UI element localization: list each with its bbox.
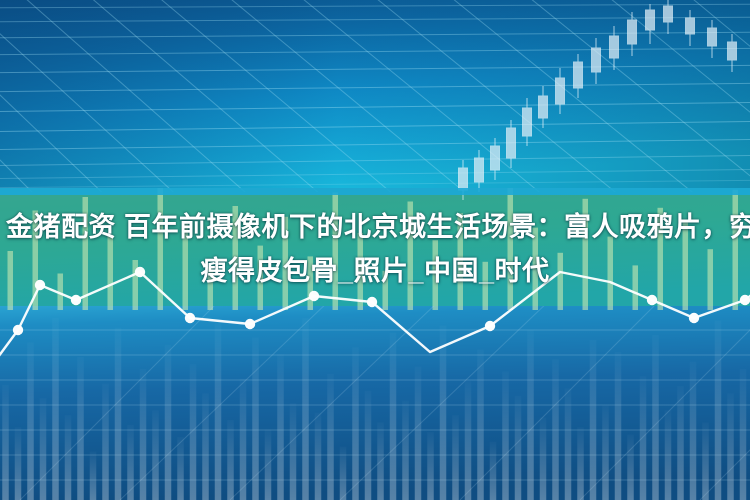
trend-marker: [245, 319, 255, 329]
trend-polyline: [0, 272, 750, 368]
trend-marker: [185, 313, 195, 323]
trend-marker: [740, 295, 750, 305]
trend-marker: [485, 321, 495, 331]
trend-marker: [647, 295, 657, 305]
trend-marker: [135, 267, 145, 277]
trend-marker: [71, 295, 81, 305]
trend-markers: [13, 267, 750, 335]
trend-marker: [35, 280, 45, 290]
financial-banner: 金猪配资 百年前摄像机下的北京城生活场景：富人吸鸦片，穷人 瘦得皮包骨_照片_中…: [0, 0, 750, 500]
trend-marker: [367, 297, 377, 307]
trend-marker: [309, 291, 319, 301]
trend-line-chart: [0, 0, 750, 500]
trend-marker: [13, 325, 23, 335]
trend-marker: [689, 313, 699, 323]
